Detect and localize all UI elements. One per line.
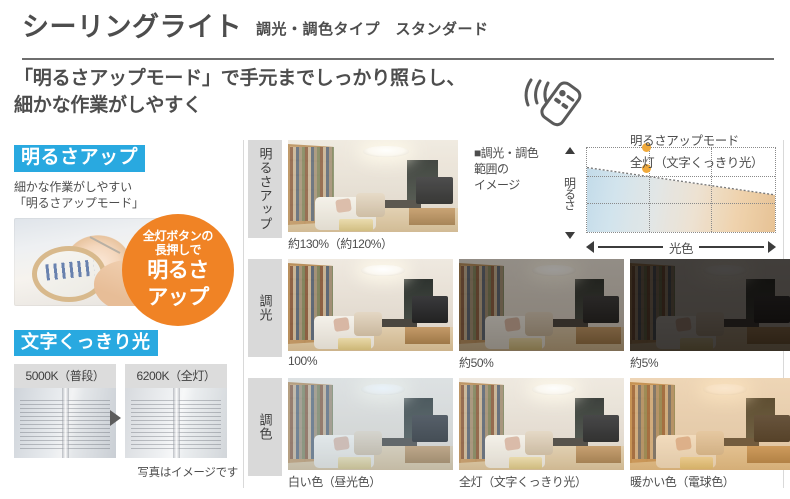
grid-row: 調光 (248, 259, 790, 371)
comparison-arrow-icon (110, 410, 121, 426)
chart-plot-area: 明るさ 明るさアップモード 全灯（文字くっきり光） 光色 (586, 143, 784, 265)
book-label-5000k: 5000K（普段） (14, 364, 116, 388)
brightness-up-callout: 全灯ボタンの 長押しで 明るさ アップ (122, 214, 234, 326)
row-label-dimming: 調光 (248, 259, 282, 357)
dim-overlay (459, 259, 624, 351)
brightness-up-badge: 明るさアップ (14, 145, 145, 172)
title-row: シーリングライト 調光・調色タイプ スタンダード (22, 14, 774, 41)
room-photo-5 (630, 259, 790, 351)
book-photo-6200k (125, 388, 227, 458)
armchair (354, 312, 382, 336)
room-photo-warm (630, 378, 790, 470)
grid-cell: 全灯（文字くっきり光） (459, 378, 624, 490)
book-spine (62, 388, 69, 458)
title-divider (22, 58, 774, 60)
room-scene (630, 259, 790, 351)
room-scene (630, 378, 790, 470)
room-scene (288, 140, 458, 232)
row-cells: 100% (288, 259, 790, 371)
grid-cell: 白い色（昼光色） (288, 378, 453, 490)
chart-title: ■調光・調色 範囲の イメージ (474, 145, 554, 193)
clear-text-badge: 文字くっきり光 (14, 330, 158, 356)
room-scene (459, 259, 624, 351)
light-overlay (288, 140, 458, 232)
product-spec-page: シーリングライト 調光・調色タイプ スタンダード 「明るさアップモード」で手元ま… (0, 0, 790, 499)
callout-big-1: 明るさ (147, 259, 209, 284)
page-title: シーリングライト (22, 14, 242, 41)
room-photo-cool (288, 378, 453, 470)
row-label-color-tuning: 調色 (248, 378, 282, 476)
left-column: 明るさアップ 細かな作業がしやすい 「明るさアップモード」 全灯ボタンの 長押し… (14, 145, 236, 212)
room-photo-neutral (459, 378, 624, 470)
annotation-all-on: 全灯（文字くっきり光） (630, 152, 763, 171)
y-axis-label: 明るさ (562, 177, 579, 210)
book-comparison: 5000K（普段） 6200K（全灯） (14, 364, 240, 458)
tv-stand (405, 327, 450, 344)
x-axis: 光色 (586, 238, 776, 256)
book-sample-6200k: 6200K（全灯） (125, 364, 227, 458)
needle-icon (90, 236, 121, 254)
x-axis-line (699, 246, 764, 248)
y-axis: 明るさ (560, 147, 580, 239)
cell-caption: 暖かい色（電球色） (630, 470, 790, 490)
cell-caption: 約50% (459, 351, 624, 371)
grid-cell: 約5% (630, 259, 790, 371)
callout-big-2: アップ (147, 286, 209, 311)
lead-line-2: 「明るさアップモード」 (14, 195, 236, 212)
dimming-range-chart: ■調光・調色 範囲の イメージ 明るさ (474, 143, 784, 265)
callout-line-2: 長押しで (155, 243, 201, 257)
x-axis-label: 光色 (667, 238, 695, 257)
chart-title-line-1: ■調光・調色 (474, 145, 554, 161)
book-photo-5000k (14, 388, 116, 458)
grid-cell: 100% (288, 259, 453, 371)
row-cells: 白い色（昼光色） (288, 378, 790, 490)
arrow-down-icon (565, 232, 575, 239)
headline-line-2: 細かな作業がしやすく (14, 93, 534, 120)
book-spine (173, 388, 180, 458)
headline-line-1: 「明るさアップモード」で手元までしっかり照らし、 (14, 66, 534, 93)
clear-text-light-section: 文字くっきり光 5000K（普段） 6200K（全灯） 写真はイメージです (14, 330, 240, 480)
cell-caption: 約5% (630, 351, 790, 371)
grid-cell: 暖かい色（電球色） (630, 378, 790, 490)
room-photo-boost (288, 140, 458, 232)
cell-caption: 100% (288, 351, 453, 368)
grid-row: 調色 (248, 378, 790, 490)
dim-overlay (630, 259, 790, 351)
row-cells: 約130%（約120%） (288, 140, 458, 252)
room-photo-100 (288, 259, 453, 351)
page-subtitle: 調光・調色タイプ スタンダード (256, 18, 489, 41)
arrow-right-icon (768, 241, 776, 253)
chart-title-line-2: 範囲の (474, 161, 554, 177)
color-tint-overlay (630, 378, 790, 470)
book-sample-5000k: 5000K（普段） (14, 364, 116, 458)
room-photo-50 (459, 259, 624, 351)
television (412, 296, 448, 324)
color-tint-overlay (459, 378, 624, 470)
photo-disclaimer: 写真はイメージです (14, 464, 240, 480)
color-tint-overlay (288, 378, 453, 470)
book-label-6200k: 6200K（全灯） (125, 364, 227, 388)
column-divider (243, 140, 244, 488)
arrow-left-icon (586, 241, 594, 253)
remote-control-icon (516, 74, 588, 130)
annotation-brightness-up-mode: 明るさアップモード (630, 130, 739, 149)
row-label-brightness-up: 明るさアップ (248, 140, 282, 238)
chart-title-line-3: イメージ (474, 177, 554, 193)
grid-cell: 約50% (459, 259, 624, 371)
grid-cell: 約130%（約120%） (288, 140, 458, 252)
brightness-up-lead: 細かな作業がしやすい 「明るさアップモード」 (14, 179, 236, 212)
coffee-table (338, 338, 371, 350)
room-scene (288, 378, 453, 470)
cell-caption: 全灯（文字くっきり光） (459, 470, 624, 490)
room-scene (288, 259, 453, 351)
lead-line-1: 細かな作業がしやすい (14, 179, 236, 196)
arrow-up-icon (565, 147, 575, 154)
page-header: シーリングライト 調光・調色タイプ スタンダード (22, 14, 774, 41)
headline: 「明るさアップモード」で手元までしっかり照らし、 細かな作業がしやすく (14, 66, 534, 120)
cell-caption: 白い色（昼光色） (288, 470, 453, 490)
cell-caption: 約130%（約120%） (288, 232, 458, 252)
room-scene (459, 378, 624, 470)
x-axis-line (598, 246, 663, 248)
callout-line-1: 全灯ボタンの (143, 229, 213, 243)
cushion (333, 317, 349, 332)
